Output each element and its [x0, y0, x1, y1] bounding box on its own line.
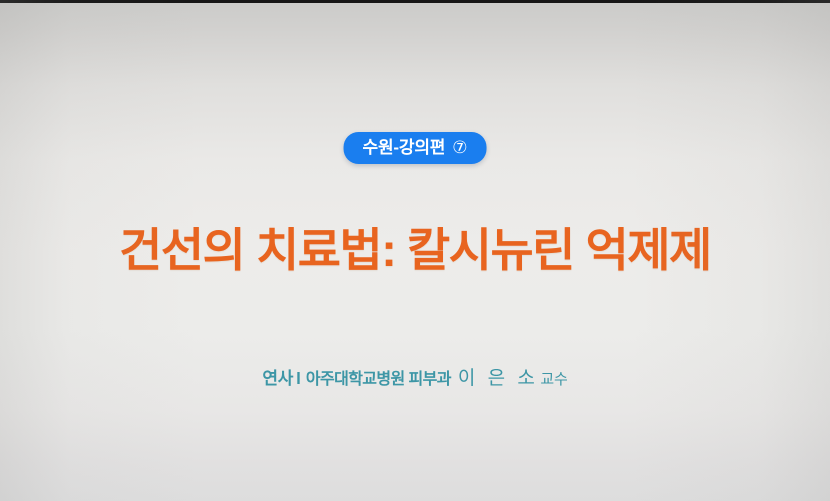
- speaker-separator: l: [296, 369, 301, 388]
- series-badge-number: ⑦: [452, 139, 467, 156]
- speaker-name: 이 은 소: [458, 368, 539, 389]
- series-badge-label: 수원-강의편: [363, 139, 446, 156]
- speaker-academic-title: 교수: [540, 371, 567, 388]
- speaker-line: 연사l아주대학교병원 피부과이 은 소교수: [0, 368, 830, 391]
- slide-content: 수원-강의편 ⑦ 건선의 치료법: 칼시뉴린 억제제 연사l아주대학교병원 피부…: [0, 0, 830, 501]
- speaker-affiliation: 아주대학교병원 피부과: [306, 371, 451, 388]
- lecture-title: 건선의 치료법: 칼시뉴린 억제제: [0, 226, 830, 275]
- speaker-role-label: 연사: [262, 369, 293, 388]
- series-badge: 수원-강의편 ⑦: [344, 132, 487, 164]
- lecture-title-slide: 수원-강의편 ⑦ 건선의 치료법: 칼시뉴린 억제제 연사l아주대학교병원 피부…: [0, 0, 830, 501]
